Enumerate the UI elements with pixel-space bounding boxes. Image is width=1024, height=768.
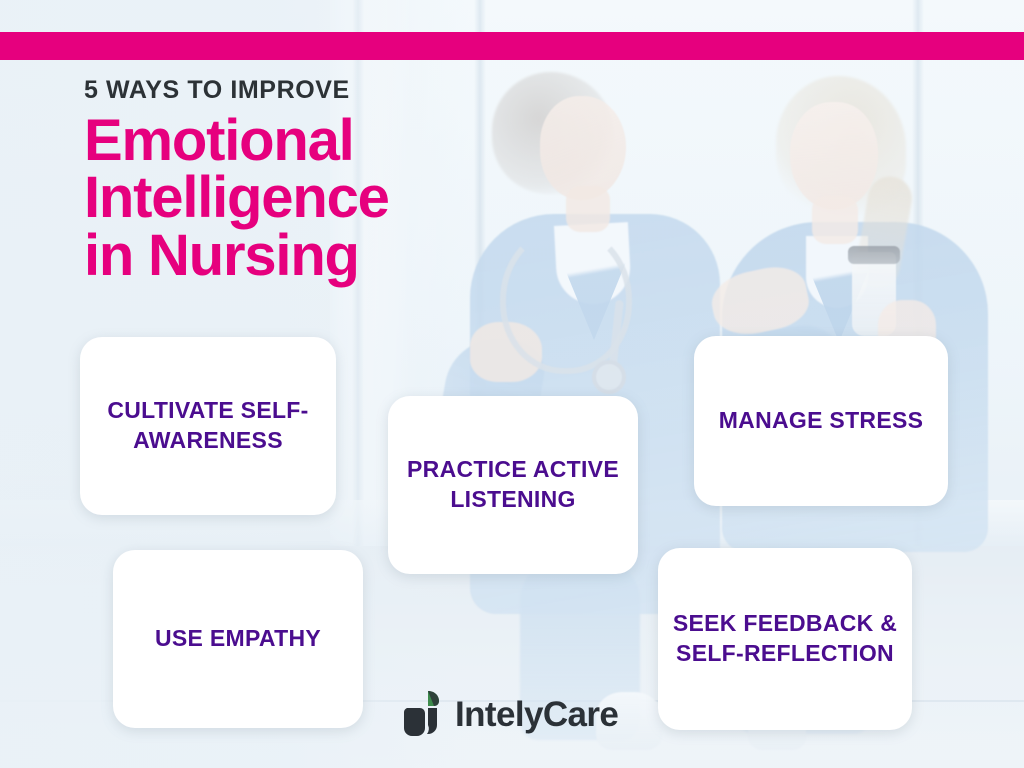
title-line-3: in Nursing	[84, 227, 389, 284]
tip-card-practice-active-listening: PRACTICE ACTIVE LISTENING	[388, 396, 638, 574]
tip-card-label: USE EMPATHY	[155, 624, 321, 654]
tip-card-label: CULTIVATE SELF-AWARENESS	[80, 396, 336, 456]
intelycare-logo: IntelyCare	[404, 690, 618, 738]
page-title: Emotional Intelligence in Nursing	[84, 112, 389, 284]
tip-card-seek-feedback-self-reflection: SEEK FEEDBACK & SELF-REFLECTION	[658, 548, 912, 730]
intelycare-wordmark: IntelyCare	[455, 697, 618, 732]
tip-card-label: MANAGE STRESS	[719, 406, 924, 436]
tip-card-manage-stress: MANAGE STRESS	[694, 336, 948, 506]
tip-card-label: SEEK FEEDBACK & SELF-REFLECTION	[658, 609, 912, 669]
eyebrow-text: 5 WAYS TO IMPROVE	[84, 78, 389, 103]
infographic-poster: 5 WAYS TO IMPROVE Emotional Intelligence…	[0, 0, 1024, 768]
title-line-2: Intelligence	[84, 169, 389, 226]
intelycare-mark-icon	[404, 690, 446, 738]
top-accent-bar	[0, 32, 1024, 60]
tip-card-label: PRACTICE ACTIVE LISTENING	[388, 455, 638, 515]
title-line-1: Emotional	[84, 112, 389, 169]
tip-card-use-empathy: USE EMPATHY	[113, 550, 363, 728]
tip-card-cultivate-self-awareness: CULTIVATE SELF-AWARENESS	[80, 337, 336, 515]
headline-block: 5 WAYS TO IMPROVE Emotional Intelligence…	[84, 78, 389, 284]
